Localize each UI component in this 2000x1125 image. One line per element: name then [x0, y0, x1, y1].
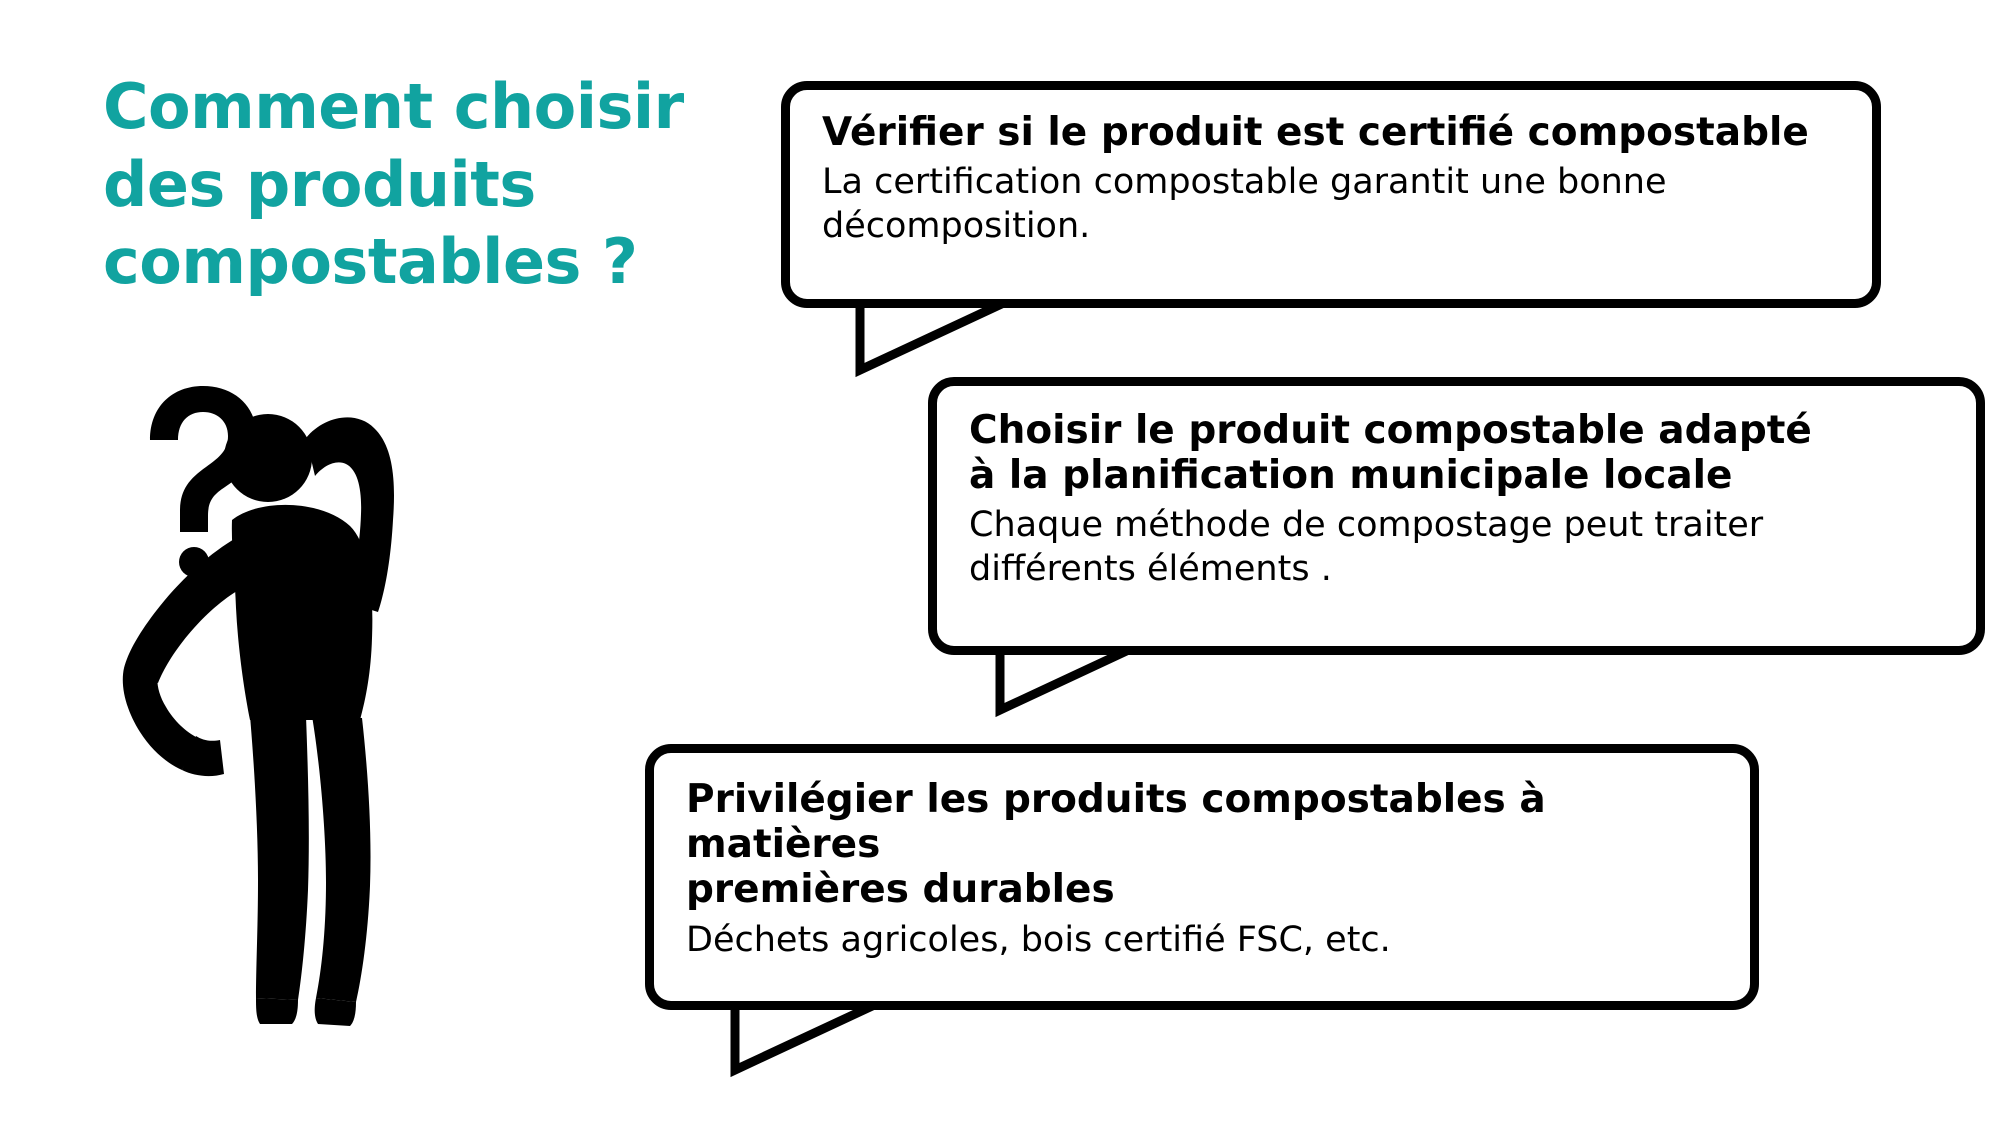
speech-bubble-1-heading-line-1: Vérifier si le produit est certifié comp… [822, 110, 1844, 155]
speech-bubble-2-heading-line-1: Choisir le produit compostable adapté [969, 408, 1948, 453]
speech-bubble-3-content: Privilégier les produits compostables à … [654, 753, 1750, 982]
page-title-line-1: Comment choisir [103, 68, 603, 146]
speech-bubble-1: Vérifier si le produit est certifié comp… [781, 81, 1881, 308]
figure-head [224, 414, 312, 502]
figure-left-foot [256, 998, 298, 1024]
thinking-person-icon [110, 380, 530, 1080]
speech-bubble-3-heading-line-2: premières durables [686, 867, 1722, 912]
speech-bubble-1-body-line-2: décomposition. [822, 205, 1844, 248]
figure-left-leg [250, 716, 309, 1000]
figure-torso [232, 505, 373, 720]
figure-right-foot [315, 998, 356, 1026]
figure-right-leg [312, 716, 371, 1002]
speech-bubble-3-heading: Privilégier les produits compostables à … [686, 777, 1722, 913]
left-panel: Comment choisir des produits compostable… [0, 0, 600, 1125]
speech-bubble-2-heading-line-2: à la planification municipale locale [969, 453, 1948, 498]
speech-bubble-2: Choisir le produit compostable adapté à … [928, 377, 1985, 655]
speech-bubble-2-body-line-2: différents éléments . [969, 548, 1948, 591]
speech-bubble-1-content: Vérifier si le produit est certifié comp… [790, 90, 1872, 268]
thinking-person-illustration [110, 380, 530, 1080]
speech-bubble-1-body-line-1: La certification compostable garantit un… [822, 161, 1844, 204]
page-title-line-2: des produits [103, 146, 603, 224]
speech-bubble-3-body: Déchets agricoles, bois certifié FSC, et… [686, 919, 1722, 962]
speech-bubble-1-heading: Vérifier si le produit est certifié comp… [822, 110, 1844, 155]
speech-bubble-2-content: Choisir le produit compostable adapté à … [937, 386, 1976, 611]
speech-bubble-2-body-line-1: Chaque méthode de compostage peut traite… [969, 504, 1948, 547]
figure-left-forearm [123, 668, 198, 770]
speech-bubble-1-body: La certification compostable garantit un… [822, 161, 1844, 248]
speech-bubble-3-body-line-1: Déchets agricoles, bois certifié FSC, et… [686, 919, 1722, 962]
speech-bubble-3: Privilégier les produits compostables à … [645, 744, 1759, 1010]
page-title-line-3: compostables ? [103, 223, 603, 301]
speech-bubble-3-heading-line-1: Privilégier les produits compostables à … [686, 777, 1722, 867]
speech-bubble-2-heading: Choisir le produit compostable adapté à … [969, 408, 1948, 498]
page-title: Comment choisir des produits compostable… [103, 68, 603, 301]
speech-bubble-2-body: Chaque méthode de compostage peut traite… [969, 504, 1948, 591]
